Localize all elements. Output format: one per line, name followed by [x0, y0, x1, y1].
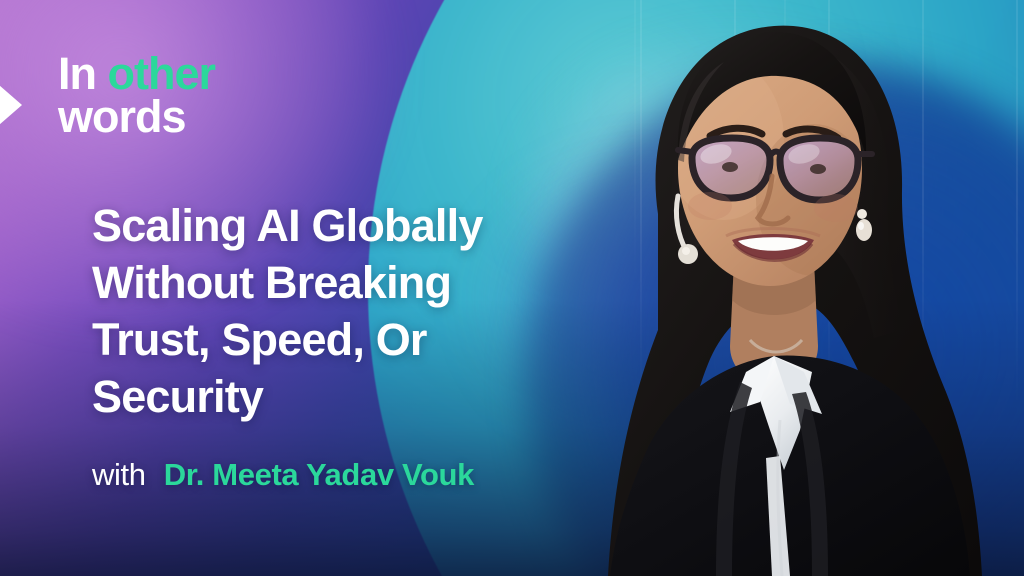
- presenter-name: Dr. Meeta Yadav Vouk: [164, 457, 474, 492]
- episode-title: Scaling AI Globally Without Breaking Tru…: [92, 198, 612, 426]
- presenter-prefix: with: [92, 457, 146, 492]
- episode-title-line-4: Security: [92, 369, 612, 426]
- episode-title-line-1: Scaling AI Globally: [92, 198, 612, 255]
- brand-wordmark-line-1: In other: [58, 52, 215, 95]
- brand-wordmark: In other words: [58, 52, 215, 138]
- presenter-credit: with Dr. Meeta Yadav Vouk: [92, 458, 474, 492]
- video-thumbnail: In other words Scaling AI Globally Witho…: [0, 0, 1024, 576]
- episode-title-line-3: Trust, Speed, Or: [92, 312, 612, 369]
- play-arrow-icon: [0, 62, 26, 148]
- brand-wordmark-line-2: words: [58, 95, 215, 138]
- episode-title-line-2: Without Breaking: [92, 255, 612, 312]
